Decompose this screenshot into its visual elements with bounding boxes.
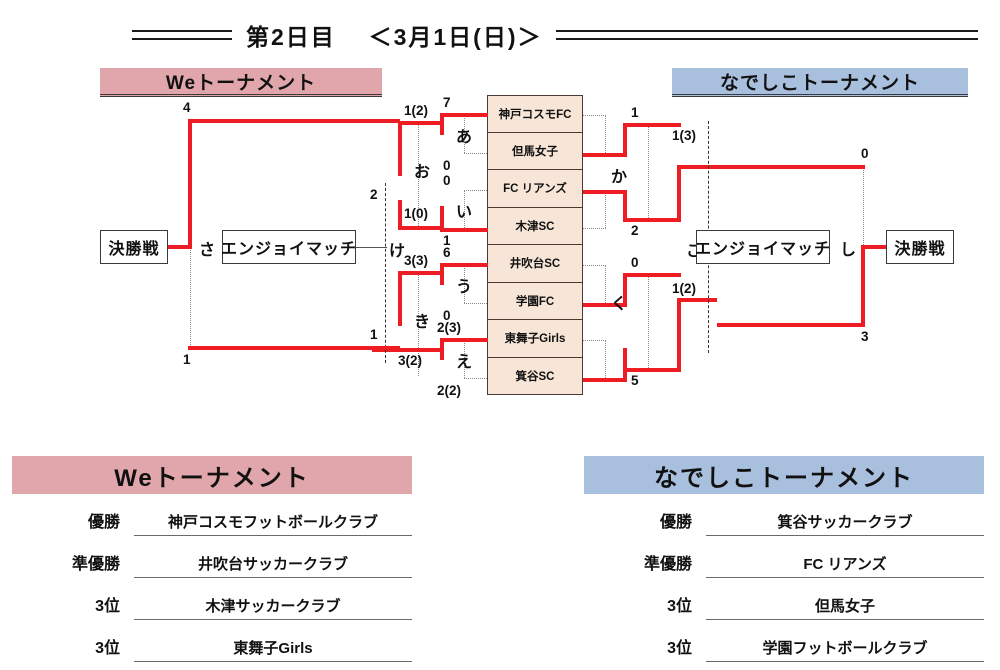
- results-row: 3位 東舞子Girls: [12, 620, 412, 662]
- bracket-line-red: [583, 190, 627, 194]
- score-label: 3: [861, 329, 869, 344]
- results-rank: 3位: [12, 634, 134, 662]
- score-label: 6: [443, 245, 451, 260]
- score-label: 1(0): [404, 206, 428, 221]
- bracket-line-red: [583, 378, 627, 382]
- score-label: 5: [631, 373, 639, 388]
- match-label: さ: [199, 236, 215, 260]
- results-team: 神戸コスモフットボールクラブ: [134, 511, 412, 536]
- score-label: 3(2): [398, 353, 422, 368]
- score-label: 1(2): [672, 281, 696, 296]
- bracket-line-red: [188, 119, 192, 249]
- score-label: 1(2): [404, 103, 428, 118]
- match-label: し: [840, 236, 856, 260]
- match-label: え: [456, 348, 472, 372]
- bracket-line-red: [398, 200, 402, 228]
- score-label: 2(3): [437, 320, 461, 335]
- team-box: 木津SC: [487, 208, 583, 246]
- enjoy-match-box-right: エンジョイマッチ: [696, 230, 830, 264]
- score-label: 3(3): [404, 253, 428, 268]
- bracket-line-red: [677, 165, 717, 169]
- score-label: 0: [443, 158, 451, 173]
- bracket-line-red: [677, 298, 717, 302]
- final-box-left: 決勝戦: [100, 230, 168, 264]
- header-rule-left: [132, 30, 232, 40]
- bracket-line-red: [623, 190, 627, 220]
- bracket-line-red: [623, 218, 681, 222]
- results-row: 優勝 箕谷サッカークラブ: [584, 494, 984, 536]
- results-row: 準優勝 FC リアンズ: [584, 536, 984, 578]
- bracket-line-red: [861, 245, 865, 325]
- results-row: 準優勝 井吹台サッカークラブ: [12, 536, 412, 578]
- title-date: ＜3月1日(日)＞: [369, 24, 543, 50]
- connector-dotted: [605, 340, 606, 378]
- score-label: 0: [443, 173, 451, 188]
- connector-dotted: [464, 378, 487, 379]
- tournament-bracket: 神戸コスモFC 但馬女子 FC リアンズ 木津SC 井吹台SC 学園FC 東舞子…: [0, 95, 1000, 415]
- connector-dotted: [648, 125, 649, 220]
- team-box-column: 神戸コスモFC 但馬女子 FC リアンズ 木津SC 井吹台SC 学園FC 東舞子…: [487, 95, 583, 395]
- results-nadeshiko-tournament: なでしこトーナメント 優勝 箕谷サッカークラブ 準優勝 FC リアンズ 3位 但…: [584, 456, 984, 662]
- title-day: 第2日目: [246, 24, 336, 50]
- score-label: 1: [631, 105, 639, 120]
- team-box: 井吹台SC: [487, 245, 583, 283]
- results-rank: 準優勝: [584, 550, 706, 578]
- results-rank: 準優勝: [12, 550, 134, 578]
- connector-dotted: [583, 265, 606, 266]
- score-label: 0: [631, 255, 639, 270]
- bracket-line-red: [398, 271, 442, 275]
- connector-dotted: [583, 115, 606, 116]
- team-box: 神戸コスモFC: [487, 95, 583, 133]
- score-label: 1(3): [672, 128, 696, 143]
- results-rank: 3位: [12, 592, 134, 620]
- connector-dotted: [605, 265, 606, 303]
- score-label: 1: [183, 352, 191, 367]
- match-label: か: [611, 163, 627, 187]
- results-rank: 3位: [584, 634, 706, 662]
- score-label: 2: [370, 187, 378, 202]
- score-label: 1: [370, 327, 378, 342]
- results-team: FC リアンズ: [706, 553, 984, 578]
- bracket-line-red: [623, 368, 681, 372]
- bracket-line-red: [188, 119, 400, 123]
- results-team: 学園フットボールクラブ: [706, 637, 984, 662]
- results-team: 井吹台サッカークラブ: [134, 553, 412, 578]
- connector-dotted: [583, 228, 606, 229]
- bracket-line-red: [717, 323, 865, 327]
- team-box: 但馬女子: [487, 133, 583, 171]
- team-box: 東舞子Girls: [487, 320, 583, 358]
- bracket-line-red: [861, 245, 887, 249]
- team-box: 箕谷SC: [487, 358, 583, 396]
- connector-dotted: [464, 190, 487, 191]
- bracket-line-red: [583, 153, 627, 157]
- page-header: 第2日目 ＜3月1日(日)＞: [0, 14, 1000, 56]
- results-row: 優勝 神戸コスモフットボールクラブ: [12, 494, 412, 536]
- connector-solid: [355, 247, 387, 248]
- results-row: 3位 木津サッカークラブ: [12, 578, 412, 620]
- score-label: 4: [183, 100, 191, 115]
- results-team: 木津サッカークラブ: [134, 595, 412, 620]
- bracket-line-red: [623, 125, 627, 155]
- results-rank: 3位: [584, 592, 706, 620]
- results-we-title: Weトーナメント: [12, 456, 412, 494]
- results-nadeshiko-title: なでしこトーナメント: [584, 456, 984, 494]
- score-label: 7: [443, 95, 451, 110]
- match-label: い: [456, 198, 472, 222]
- match-label: あ: [456, 123, 472, 147]
- final-box-right: 決勝戦: [886, 230, 954, 264]
- results-rank: 優勝: [584, 508, 706, 536]
- bracket-line-red: [398, 121, 402, 176]
- bracket-line-red: [398, 271, 402, 326]
- team-box: FC リアンズ: [487, 170, 583, 208]
- score-label: 0: [861, 146, 869, 161]
- bracket-line-red: [623, 123, 681, 127]
- connector-dotted: [464, 303, 487, 304]
- bracket-line-red: [677, 165, 681, 220]
- header-rule-right: [556, 30, 978, 40]
- bracket-line-red: [623, 273, 681, 277]
- results-row: 3位 但馬女子: [584, 578, 984, 620]
- bracket-line-red: [398, 121, 442, 125]
- results-rank: 優勝: [12, 508, 134, 536]
- bracket-line-red: [440, 206, 444, 228]
- connector-dotted: [863, 167, 864, 249]
- bracket-line-red: [188, 346, 400, 350]
- banner-we-label: Weトーナメント: [166, 68, 316, 95]
- connector-dotted: [583, 340, 606, 341]
- banner-nadeshiko-tournament: なでしこトーナメント: [672, 68, 968, 97]
- bracket-line-red: [717, 165, 865, 169]
- match-label: う: [456, 273, 472, 297]
- results-row: 3位 学園フットボールクラブ: [584, 620, 984, 662]
- results-team: 但馬女子: [706, 595, 984, 620]
- results-team: 箕谷サッカークラブ: [706, 511, 984, 536]
- results-team: 東舞子Girls: [134, 637, 412, 662]
- match-label: き: [414, 308, 430, 332]
- connector-dotted: [648, 275, 649, 370]
- bracket-line-red: [440, 113, 488, 117]
- bracket-line-red: [440, 338, 488, 342]
- bracket-line-red: [623, 348, 627, 380]
- divider-dashdot: [385, 183, 386, 363]
- score-label: 2(2): [437, 383, 461, 398]
- bracket-line-red: [398, 226, 442, 230]
- bracket-line-red: [440, 228, 488, 232]
- banner-we-tournament: Weトーナメント: [100, 68, 382, 97]
- score-label: 2: [631, 223, 639, 238]
- bracket-line-red: [166, 245, 192, 249]
- match-label: く: [611, 290, 627, 314]
- enjoy-match-box-left: エンジョイマッチ: [222, 230, 356, 264]
- connector-dotted: [605, 190, 606, 228]
- bracket-line-red: [677, 298, 681, 370]
- connector-dotted: [464, 153, 487, 154]
- match-label: お: [414, 158, 430, 182]
- banner-nadeshiko-label: なでしこトーナメント: [720, 68, 920, 95]
- results-we-tournament: Weトーナメント 優勝 神戸コスモフットボールクラブ 準優勝 井吹台サッカークラ…: [12, 456, 412, 662]
- team-box: 学園FC: [487, 283, 583, 321]
- connector-dotted: [605, 115, 606, 153]
- page-title: 第2日目 ＜3月1日(日)＞: [232, 18, 556, 52]
- bracket-line-red: [440, 263, 488, 267]
- match-label: け: [389, 237, 405, 261]
